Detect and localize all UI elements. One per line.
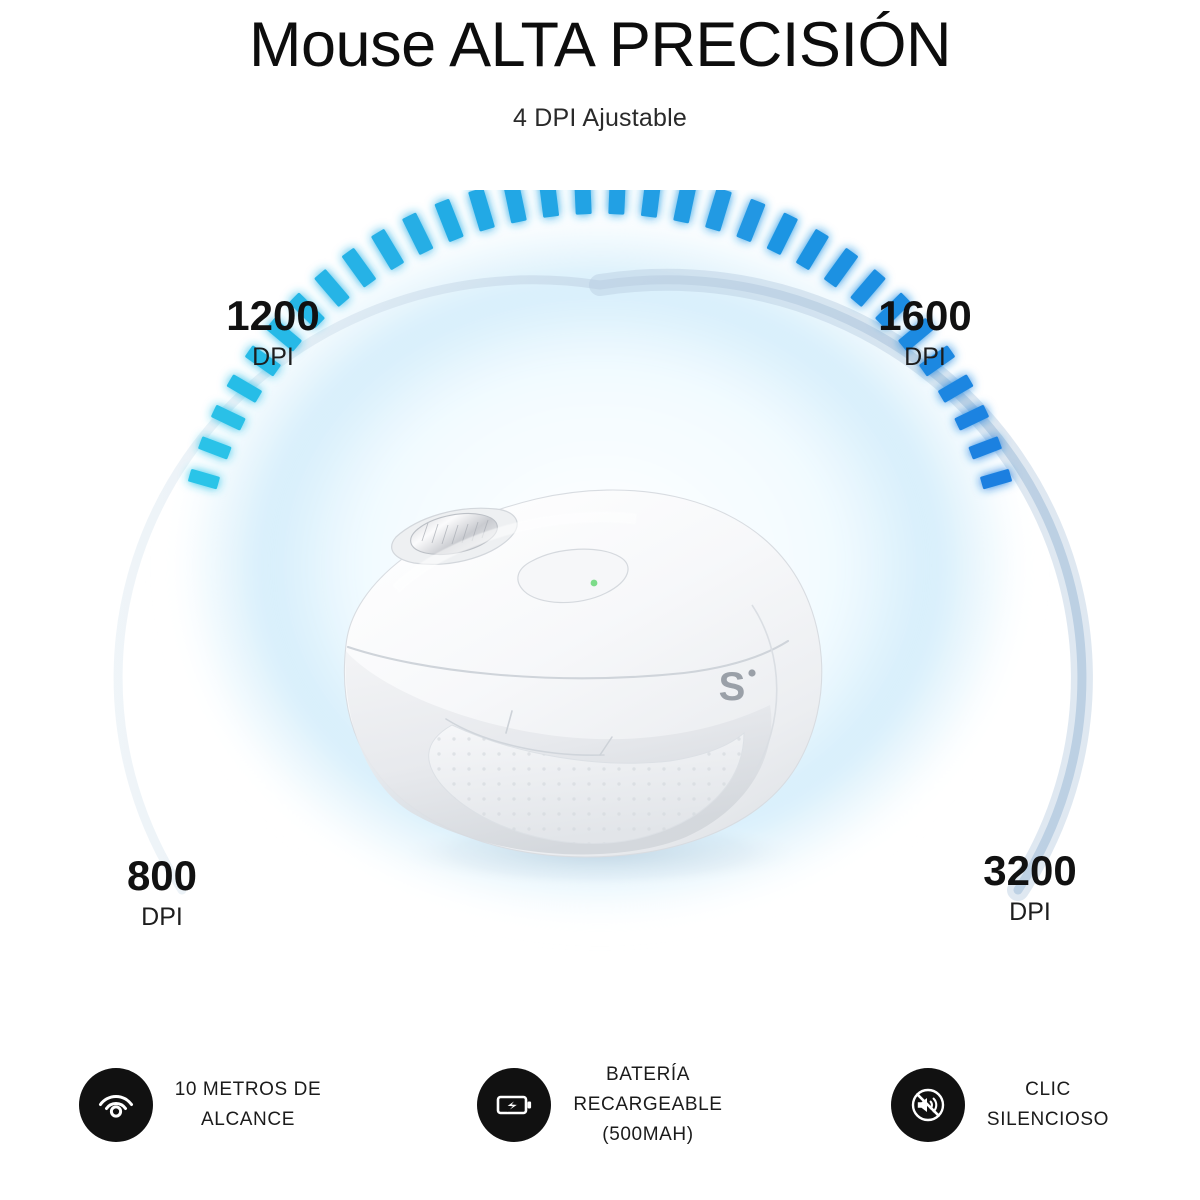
feature-silent-click: CLIC SILENCIOSO [800,1068,1200,1142]
dpi-value-1600: 1600 [830,295,1020,337]
feature-row: 10 METROS DE ALCANCE BATERÍA RECARGEABLE… [0,1010,1200,1200]
dial-tick [434,199,464,243]
dpi-value-3200: 3200 [930,850,1130,892]
dial-tick [736,199,766,243]
feature-wireless-range: 10 METROS DE ALCANCE [0,1068,400,1142]
feature-line: (500MAH) [573,1120,722,1150]
dial-tick [766,212,798,255]
dpi-label-1200: 1200 DPI [178,295,368,370]
dpi-unit-1600: DPI [830,345,1020,370]
feature-line: ALCANCE [175,1105,322,1135]
feature-rechargeable-battery-label: BATERÍA RECARGEABLE (500MAH) [573,1060,722,1150]
dial-tick [371,229,405,271]
feature-line: 10 METROS DE [175,1075,322,1105]
dpi-label-3200: 3200 DPI [930,850,1130,925]
feature-line: SILENCIOSO [987,1105,1109,1135]
page-title: Mouse ALTA PRECISIÓN [0,14,1200,77]
dpi-dial-stage: 1200 DPI 1600 DPI 800 DPI 3200 DPI [0,190,1200,1000]
dpi-unit-3200: DPI [930,900,1130,925]
page-subtitle: 4 DPI Ajustable [0,104,1200,133]
dpi-unit-1200: DPI [178,345,368,370]
dpi-value-1200: 1200 [178,295,368,337]
header: Mouse ALTA PRECISIÓN 4 DPI Ajustable [0,0,1200,133]
silent-click-icon [891,1068,965,1142]
dial-tick [824,248,859,288]
dial-tick [402,212,434,255]
feature-wireless-range-label: 10 METROS DE ALCANCE [175,1075,322,1135]
feature-line: CLIC [987,1075,1109,1105]
dial-tick [503,190,527,224]
dial-tick [705,190,732,232]
brand-logo: S [719,665,746,709]
dpi-value-800: 800 [72,855,252,897]
dpi-label-800: 800 DPI [72,855,252,930]
product-infographic: Mouse ALTA PRECISIÓN 4 DPI Ajustable [0,0,1200,1200]
dpi-unit-800: DPI [72,905,252,930]
feature-line: RECARGEABLE [573,1090,722,1120]
title-prefix: Mouse [249,10,449,80]
feature-silent-click-label: CLIC SILENCIOSO [987,1075,1109,1135]
dpi-label-1600: 1600 DPI [830,295,1020,370]
feature-rechargeable-battery: BATERÍA RECARGEABLE (500MAH) [400,1060,800,1150]
product-image-mouse: S [300,465,860,895]
dial-tick [796,229,830,271]
dial-tick [673,190,697,224]
dial-tick [641,190,662,218]
feature-line: BATERÍA [573,1060,722,1090]
rechargeable-battery-icon [477,1068,551,1142]
dial-tick [341,248,376,288]
dial-tick [468,190,495,232]
dial-tick [538,190,559,218]
dial-tick [608,190,626,215]
title-emphasis: ALTA PRECISIÓN [449,10,951,80]
wireless-range-icon [79,1068,153,1142]
dial-tick [574,190,592,215]
